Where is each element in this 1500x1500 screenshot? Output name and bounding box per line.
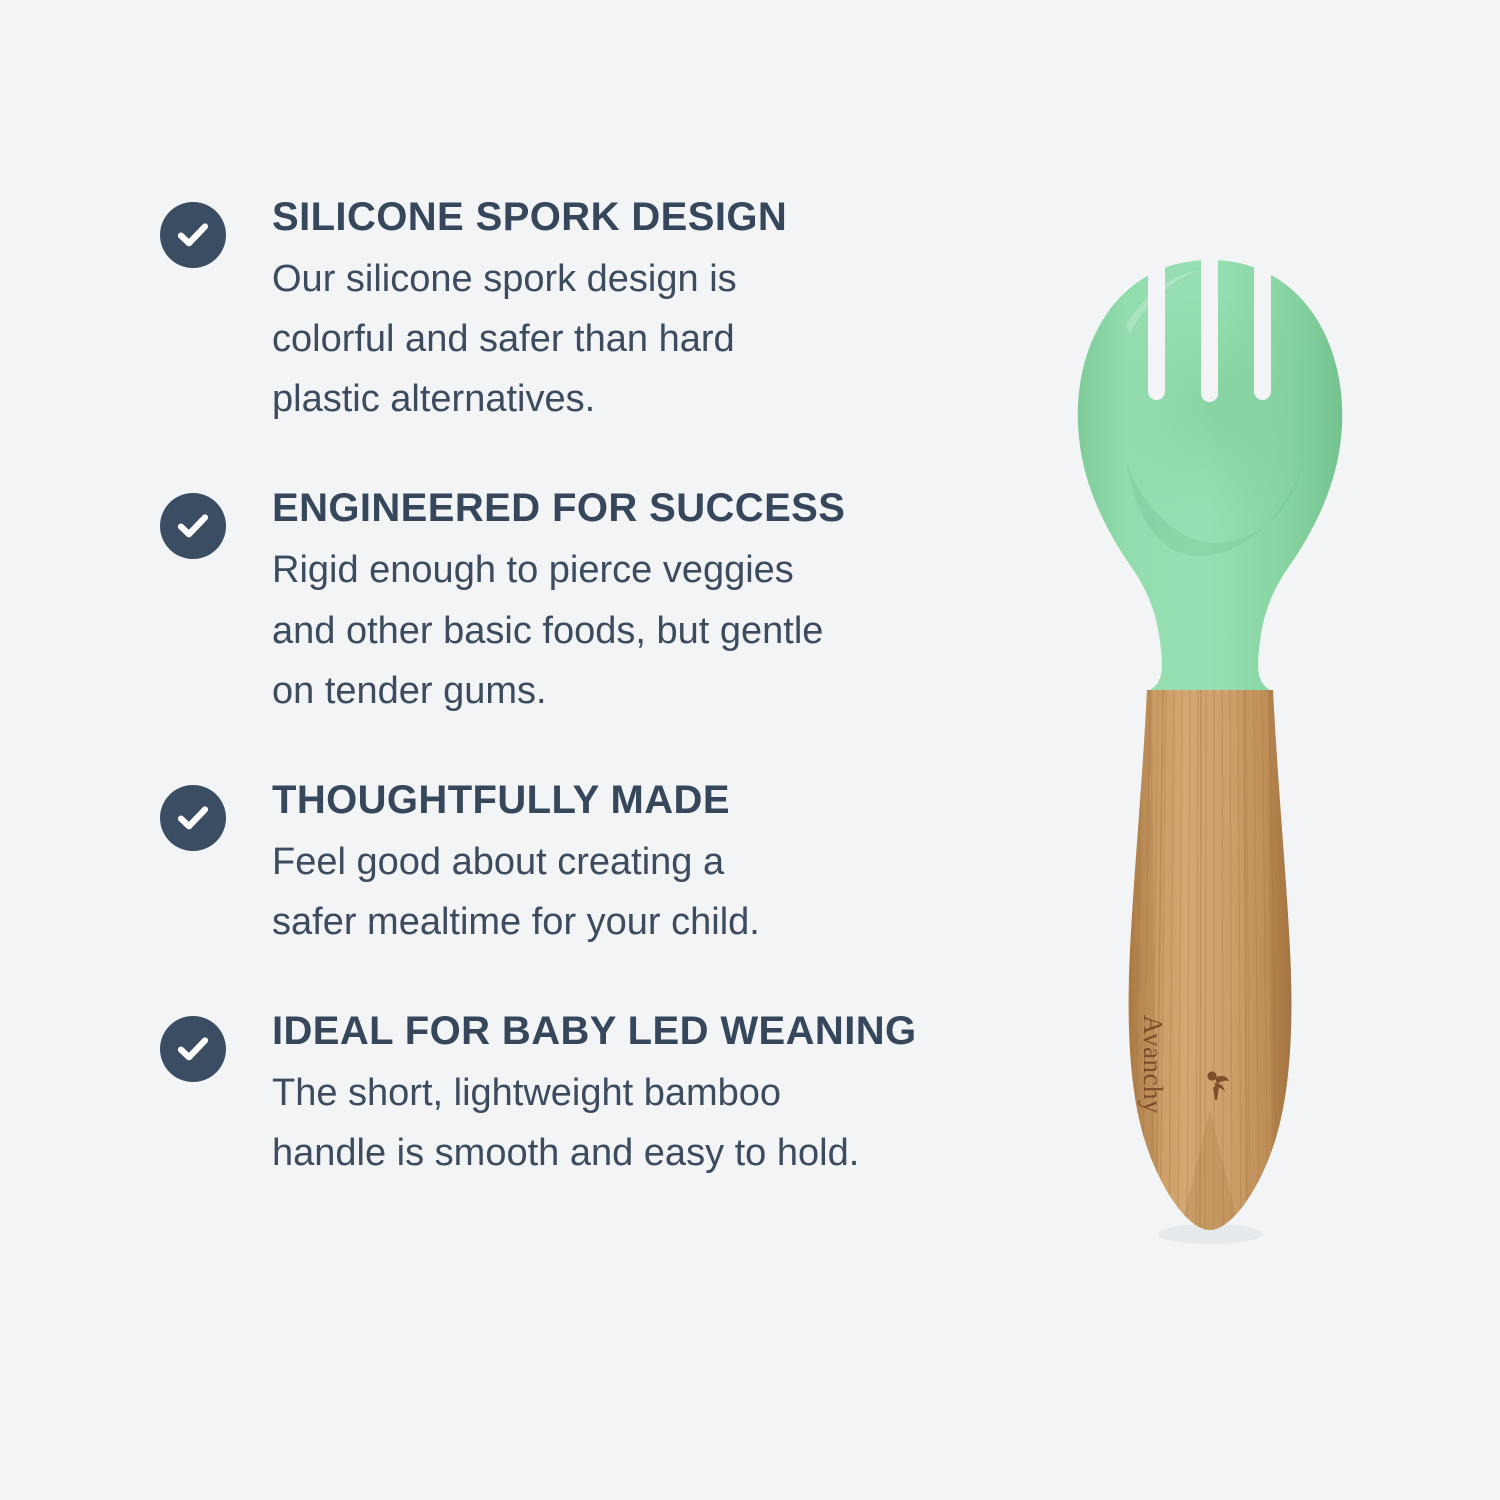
feature-description-line: Feel good about creating a bbox=[272, 832, 972, 892]
feature-description: Our silicone spork design is colorful an… bbox=[272, 249, 972, 429]
feature-title: ENGINEERED FOR SUCCESS bbox=[272, 487, 1020, 530]
feature-description-line: The short, lightweight bamboo bbox=[272, 1063, 972, 1123]
product-image-spork bbox=[1030, 230, 1390, 1260]
feature-description-line: Rigid enough to pierce veggies bbox=[272, 540, 972, 600]
check-circle-icon bbox=[160, 493, 226, 559]
feature-title: THOUGHTFULLY MADE bbox=[272, 779, 1020, 822]
feature-item-thoughtfully-made: THOUGHTFULLY MADE Feel good about creati… bbox=[160, 779, 1020, 952]
feature-item-ideal-for-baby-led-weaning: IDEAL FOR BABY LED WEANING The short, li… bbox=[160, 1010, 1020, 1183]
feature-description-line: Our silicone spork design is bbox=[272, 249, 972, 309]
feature-description-line: on tender gums. bbox=[272, 661, 972, 721]
feature-description-line: plastic alternatives. bbox=[272, 369, 972, 429]
feature-description: Rigid enough to pierce veggies and other… bbox=[272, 540, 972, 720]
check-circle-icon bbox=[160, 785, 226, 851]
feature-description: The short, lightweight bamboo handle is … bbox=[272, 1063, 972, 1183]
check-circle-icon bbox=[160, 1016, 226, 1082]
feature-item-engineered-for-success: ENGINEERED FOR SUCCESS Rigid enough to p… bbox=[160, 487, 1020, 720]
feature-description-line: colorful and safer than hard bbox=[272, 309, 972, 369]
silicone-spork-head bbox=[1078, 230, 1343, 692]
feature-description-line: and other basic foods, but gentle bbox=[272, 601, 972, 661]
feature-description-line: safer mealtime for your child. bbox=[272, 892, 972, 952]
feature-title: SILICONE SPORK DESIGN bbox=[272, 196, 1020, 239]
feature-item-silicone-spork-design: SILICONE SPORK DESIGN Our silicone spork… bbox=[160, 196, 1020, 429]
check-circle-icon bbox=[160, 202, 226, 268]
bamboo-handle bbox=[1129, 690, 1292, 1232]
feature-description: Feel good about creating a safer mealtim… bbox=[272, 832, 972, 952]
feature-description-line: handle is smooth and easy to hold. bbox=[272, 1123, 972, 1183]
product-feature-graphic: SILICONE SPORK DESIGN Our silicone spork… bbox=[0, 0, 1500, 1500]
feature-title: IDEAL FOR BABY LED WEANING bbox=[272, 1010, 1020, 1053]
feature-list: SILICONE SPORK DESIGN Our silicone spork… bbox=[160, 196, 1020, 1183]
